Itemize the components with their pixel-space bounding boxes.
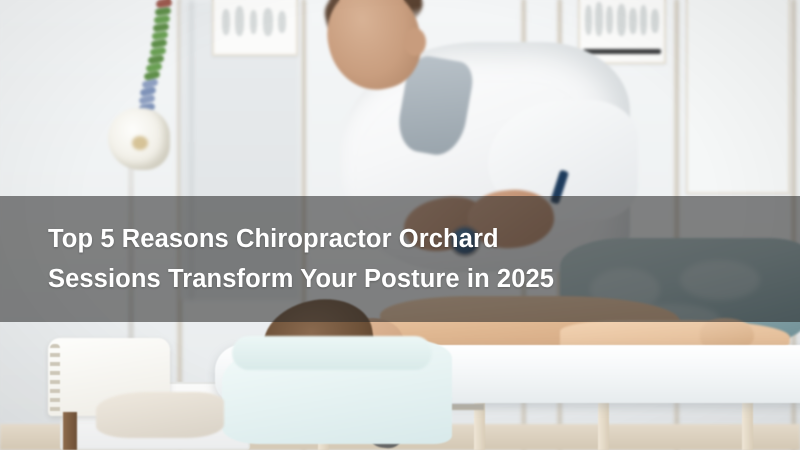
page-title: Top 5 Reasons Chiropractor Orchard Sessi…: [48, 219, 776, 299]
chair-leg: [63, 412, 77, 450]
table-leg: [598, 396, 609, 450]
table-leg: [742, 396, 753, 450]
xray-lightbox-panel: [686, 0, 790, 194]
folded-towel: [96, 392, 224, 438]
headline-overlay-band: Top 5 Reasons Chiropractor Orchard Sessi…: [0, 196, 800, 322]
headline-container: Top 5 Reasons Chiropractor Orchard Sessi…: [0, 219, 800, 299]
hero-banner: Top 5 Reasons Chiropractor Orchard Sessi…: [0, 0, 800, 450]
chair-stud-trim: [50, 344, 60, 416]
doctor-ear: [404, 28, 426, 56]
xray-poster: [212, 0, 298, 56]
table-head-pad: [232, 336, 432, 370]
pelvis-model: [108, 108, 170, 170]
